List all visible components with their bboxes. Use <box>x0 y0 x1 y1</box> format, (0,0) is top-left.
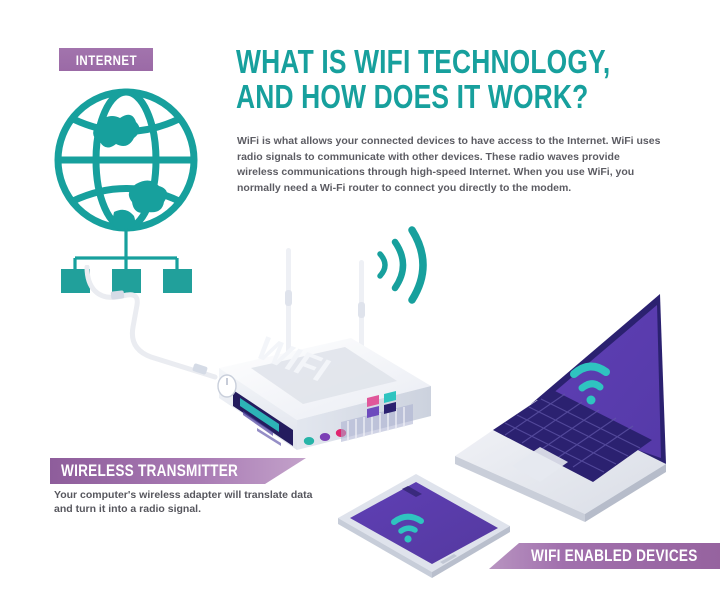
page-title: WHAT IS WIFI TECHNOLOGY, AND HOW DOES IT… <box>236 44 686 114</box>
wifi-enabled-devices-label: WIFI ENABLED DEVICES <box>531 546 698 566</box>
page-title-line-1: WHAT IS WIFI TECHNOLOGY, <box>236 44 596 79</box>
wireless-transmitter-banner: WIRELESS TRANSMITTER <box>50 458 306 484</box>
infographic-canvas: INTERNET <box>0 0 720 614</box>
wireless-transmitter-label: WIRELESS TRANSMITTER <box>61 461 238 481</box>
internet-badge: INTERNET <box>59 48 153 71</box>
wifi-enabled-devices-banner: WIFI ENABLED DEVICES <box>489 543 720 569</box>
internet-badge-label: INTERNET <box>75 52 136 68</box>
wireless-transmitter-caption: Your computer's wireless adapter will tr… <box>54 488 324 516</box>
wifi-signal-icon <box>368 222 446 308</box>
intro-paragraph: WiFi is what allows your connected devic… <box>237 134 662 196</box>
page-title-line-2: AND HOW DOES IT WORK? <box>236 79 596 114</box>
